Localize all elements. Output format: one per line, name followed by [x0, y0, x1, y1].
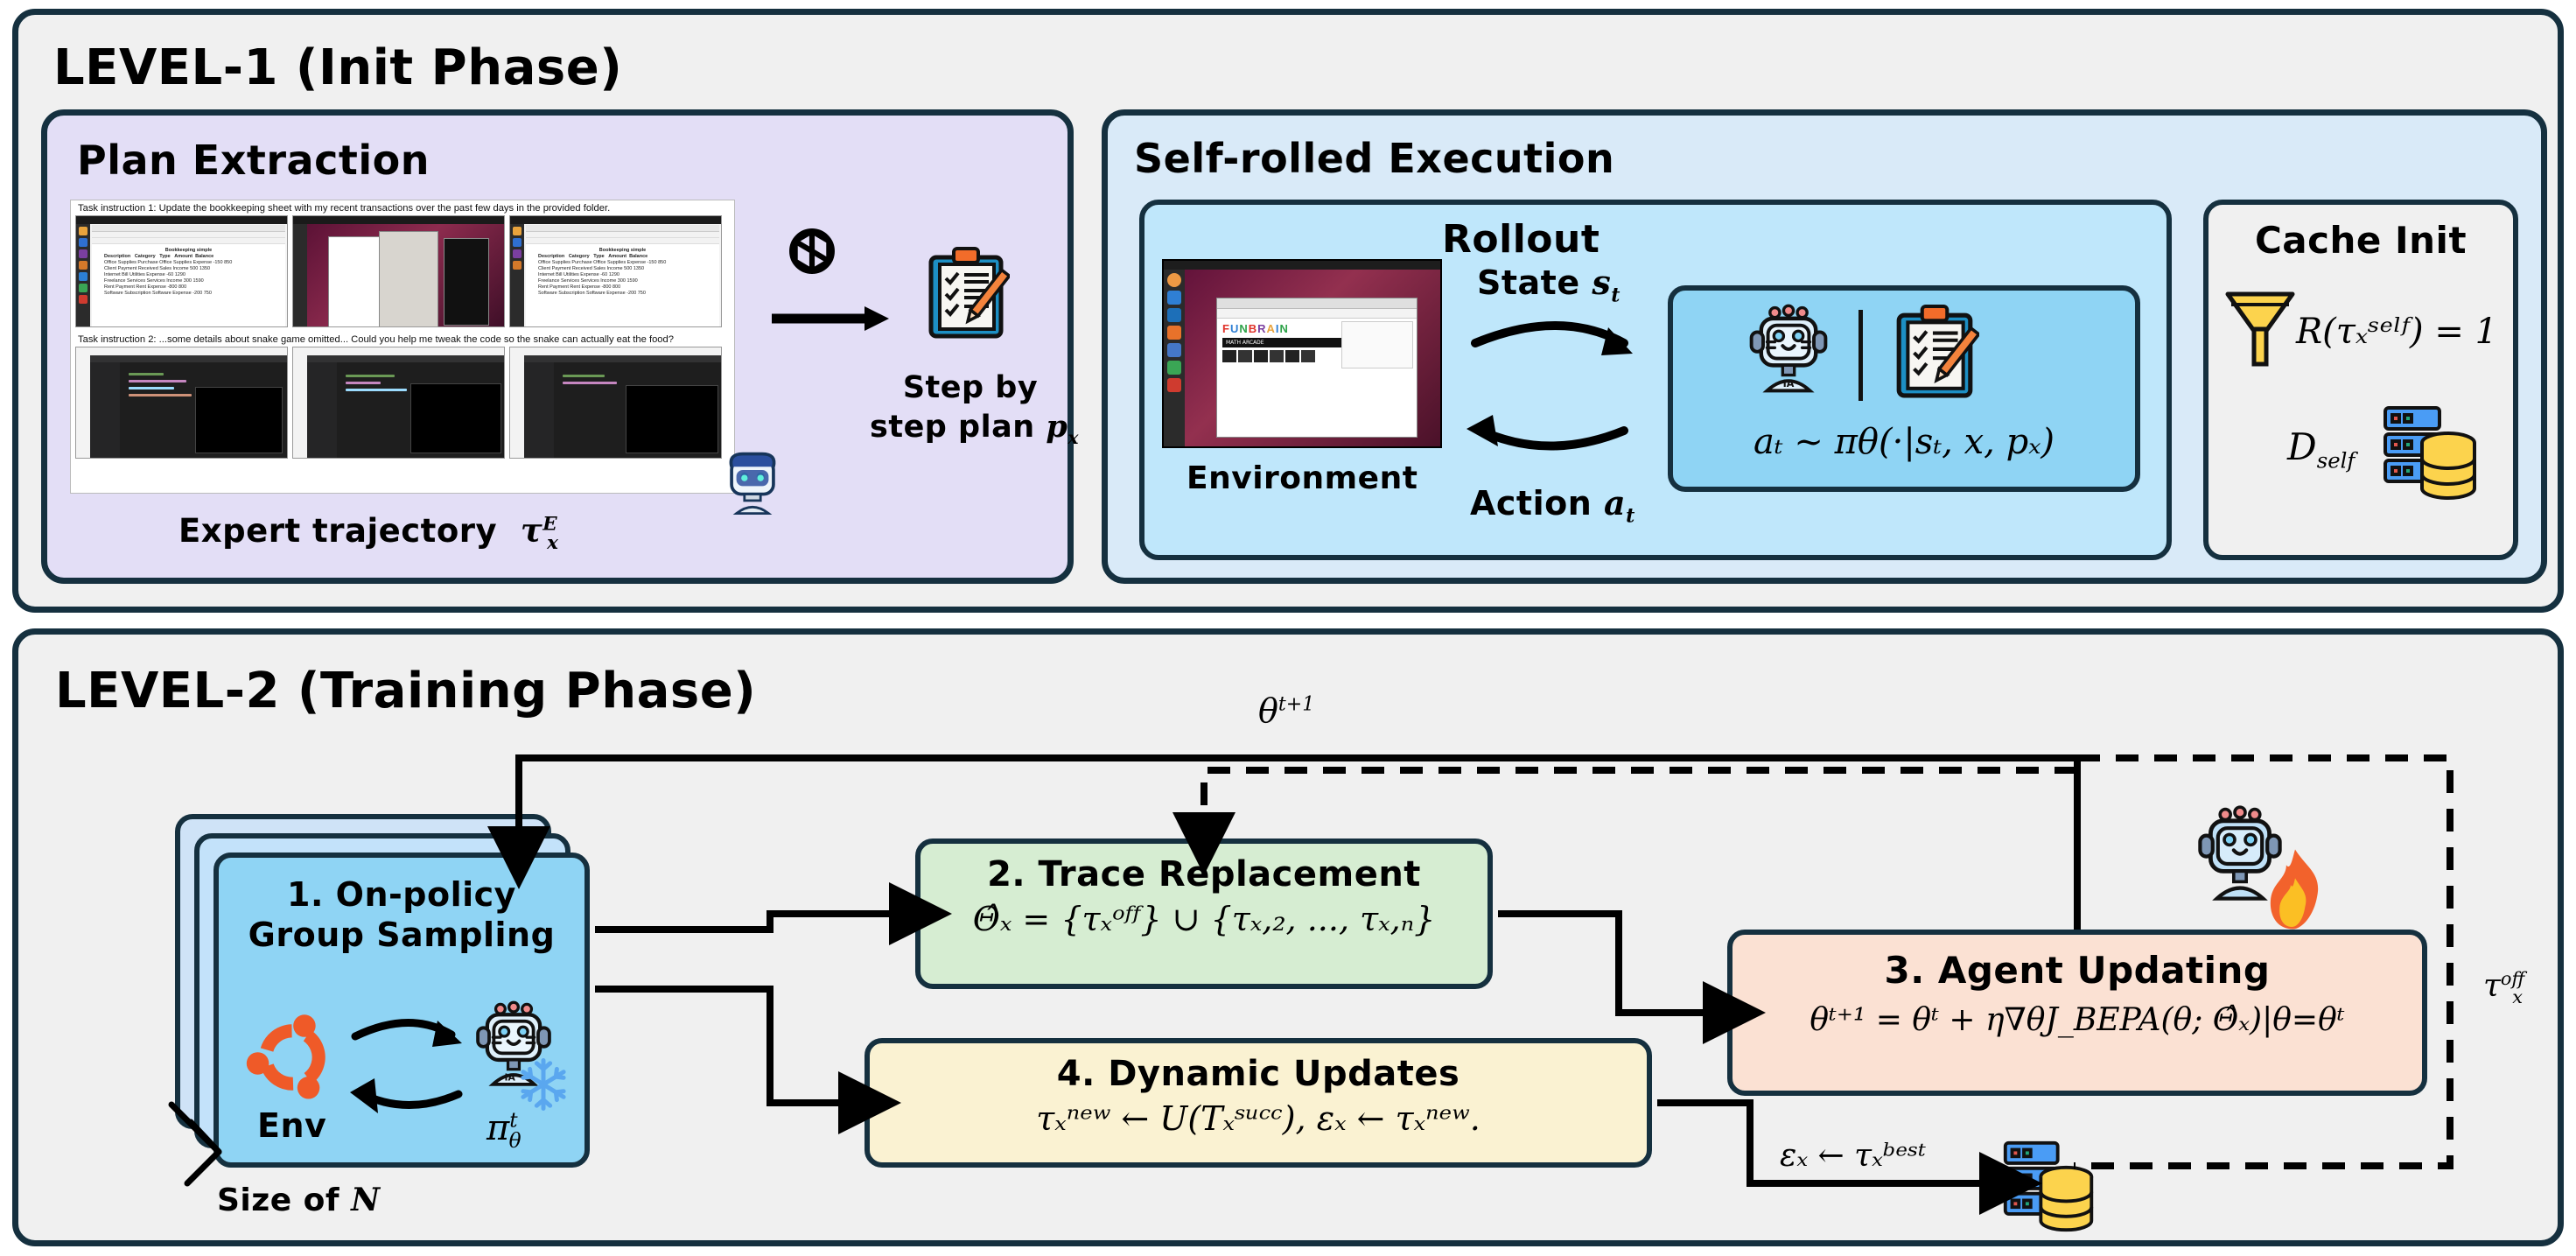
dynamic-updates-box: 4. Dynamic Updates τₓⁿᵉʷ ← U(Tₓˢᵘᶜᶜ), εₓ…: [864, 1038, 1652, 1168]
plan-arrow-icon: [770, 301, 892, 336]
level-2-title: LEVEL-2 (Training Phase): [55, 663, 756, 719]
policy-theta-symbol: πtθ: [486, 1108, 521, 1153]
clipboard-checklist-icon: [922, 245, 1010, 345]
sheet-header-row: Description Category Type Amount Balance: [92, 254, 285, 260]
environment-screenshot: FUNBRAIN MATH ARCADE: [1162, 259, 1442, 448]
step3-title: 3. Agent Updating: [1732, 949, 2422, 992]
ubuntu-logo-icon: [241, 1007, 343, 1112]
robot-assistant-icon: [712, 439, 793, 520]
sheet-row: Client Payment Received Sales Income 500…: [92, 266, 285, 272]
on-policy-group-sampling-box: 1. On-policy Group Sampling Env: [213, 853, 590, 1168]
theta-next-label: θt+1: [1258, 691, 1314, 730]
screenshot-spreadsheet: Bookkeeping simple Description Category …: [75, 215, 288, 327]
screenshot-row-2: [71, 347, 734, 463]
task-instruction-2: Task instruction 2: ...some details abou…: [71, 332, 734, 347]
env-policy-loop-arrows: [348, 1005, 479, 1127]
preview-window: [444, 238, 489, 326]
step4-formula: τₓⁿᵉʷ ← U(Tₓˢᵘᶜᶜ), εₓ ← τₓⁿᵉʷ.: [870, 1099, 1647, 1138]
cache-init-box: Cache Init R(τₓˢᵉˡᶠ) = 1 Dself: [2203, 200, 2518, 560]
screenshot-vscode-3: [509, 347, 722, 459]
step1-title-line1: 1. On-policy: [219, 875, 584, 916]
funnel-filter-icon: [2222, 285, 2298, 373]
clipboard-checklist-icon: [1890, 301, 1979, 406]
tau-off-label: τoffx: [2483, 968, 2523, 1007]
step-plan-line1: Step by: [870, 369, 1071, 408]
snake-game-canvas: [195, 387, 283, 453]
openai-logo-icon: [773, 219, 850, 299]
agent-updating-box: 3. Agent Updating θᵗ⁺¹ = θᵗ + η∇θJ_BEPA(…: [1727, 930, 2427, 1096]
snowflake-frozen-icon: [514, 1056, 572, 1117]
action-label: Action at: [1470, 483, 1635, 528]
rollout-title: Rollout: [1442, 217, 1599, 262]
task-instruction-1: Task instruction 1: Update the bookkeepi…: [71, 200, 734, 215]
robot-assistant-icon: IA: [1739, 303, 1837, 408]
receipt-image: [379, 231, 438, 327]
size-of-n-label: Size of N: [217, 1182, 381, 1218]
sheet-row: Rent Payment Rent Expense -800 800: [92, 284, 285, 291]
database-server-icon: [2000, 1136, 2098, 1241]
step2-formula: Θ̂ₓ = {τₓᵒᶠᶠ} ∪ {τₓ,₂, ..., τₓ,ₙ}: [920, 900, 1487, 938]
state-action-loop-arrows: [1459, 275, 1661, 502]
state-label: State st: [1477, 263, 1620, 307]
screenshot-vscode-2: [292, 347, 505, 459]
snake-game-canvas: [626, 385, 718, 453]
dataset-self-symbol: Dself: [2287, 425, 2355, 473]
snake-game-canvas: [410, 383, 501, 453]
screenshot-row-1: Bookkeeping simple Description Category …: [71, 215, 734, 332]
trace-replacement-box: 2. Trace Replacement Θ̂ₓ = {τₓᵒᶠᶠ} ∪ {τₓ…: [915, 839, 1493, 989]
sheet-title: Bookkeeping simple: [92, 248, 285, 254]
policy-formula: aₜ ~ πθ(·|sₜ, x, pₓ): [1673, 422, 2135, 462]
level-1-panel: LEVEL-1 (Init Phase) Plan Extraction Tas…: [12, 9, 2564, 613]
screenshot-spreadsheet-updated: Bookkeeping simple Description Category …: [509, 215, 722, 327]
sheet-row: Office Supplies Purchase Office Supplies…: [92, 260, 285, 266]
divider: [1858, 310, 1863, 401]
rollout-box: Rollout: [1139, 200, 2172, 560]
expert-trajectory-screenshots: Task instruction 1: Update the bookkeepi…: [70, 200, 735, 494]
step1-title-line2: Group Sampling: [219, 916, 584, 956]
expert-trajectory-caption: Expert trajectory τEx: [178, 511, 558, 554]
self-rolled-execution-panel: Self-rolled Execution Rollout: [1102, 109, 2547, 584]
plan-extraction-title: Plan Extraction: [77, 137, 430, 184]
screenshot-receipt-viewer: [292, 215, 505, 327]
sheet-row: Software Subscription Software Expense -…: [92, 291, 285, 297]
database-server-icon: [2380, 401, 2481, 509]
step4-title: 4. Dynamic Updates: [870, 1054, 1647, 1094]
self-rolled-execution-title: Self-rolled Execution: [1134, 135, 1614, 182]
plan-extraction-panel: Plan Extraction Task instruction 1: Upda…: [41, 109, 1074, 584]
fire-training-icon: [2261, 847, 2329, 935]
cache-init-title: Cache Init: [2208, 219, 2513, 262]
policy-box: IA: [1668, 285, 2140, 492]
step-plan-line2: step plan: [870, 410, 1035, 445]
sheet-row: Freelance Services Services Income 300 1…: [92, 278, 285, 284]
env-label: Env: [257, 1106, 326, 1145]
environment-label: Environment: [1186, 460, 1417, 496]
sheet-row: Internet Bill Utilities Expense -60 1290: [92, 272, 285, 278]
reward-formula: R(τₓˢᵉˡᶠ) = 1: [2296, 312, 2497, 352]
step2-title: 2. Trace Replacement: [920, 854, 1487, 895]
cache-update-label: εₓ ← τₓᵇᵉˢᵗ: [1780, 1138, 1926, 1174]
step-plan-label: Step by step plan px: [870, 369, 1071, 449]
screenshot-vscode-1: [75, 347, 288, 459]
expert-trajectory-label: Expert trajectory: [178, 512, 497, 550]
tau-expert-symbol: τEx: [509, 511, 559, 550]
step3-formula: θᵗ⁺¹ = θᵗ + η∇θJ_BEPA(θ; Θ̂ₓ)|θ=θᵗ: [1732, 1002, 2422, 1038]
svg-text:IA: IA: [1783, 378, 1795, 389]
level-1-title: LEVEL-1 (Init Phase): [53, 39, 622, 96]
